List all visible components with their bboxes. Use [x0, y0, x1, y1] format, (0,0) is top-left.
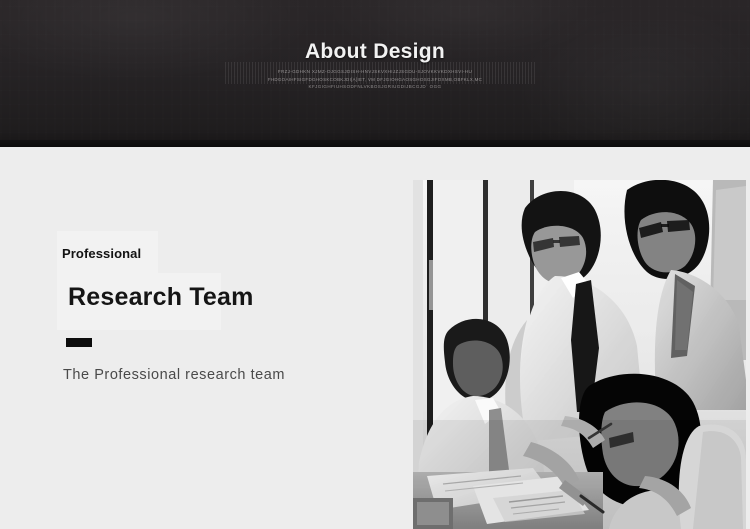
section-divider-dash [66, 338, 92, 347]
team-photo-image [413, 180, 746, 529]
team-photo [413, 180, 746, 529]
banner-content: About Design FRZJ-GDHKN XJMZ-OJGGSJDISH-… [0, 0, 750, 140]
banner-decorative-line-3: KFJGIGHFIUHSODFNLVKBOSJGRIUGDIJBCGJD` OG… [309, 83, 442, 91]
header-bottom-band [0, 140, 750, 147]
banner-decorative-line-2: FHDGOAIHFSIGFDGHOSKCOBKJDI[A]IET, VM DFJ… [268, 76, 482, 84]
banner-decorative-text-block: FRZJ-GDHKN XJMZ-OJGGSJDISH-HNVJSKVXHIJZJ… [210, 68, 540, 91]
left-text-panel: Professional Research Team The Professio… [0, 147, 413, 529]
team-photo-illustration [413, 180, 746, 529]
page-header-banner: About Design FRZJ-GDHKN XJMZ-OJGGSJDISH-… [0, 0, 750, 147]
banner-title: About Design [305, 41, 445, 62]
section-eyebrow: Professional [62, 247, 141, 260]
main-content: Professional Research Team The Professio… [0, 147, 750, 529]
section-headline: Research Team [68, 283, 254, 312]
banner-decorative-line-1: FRZJ-GDHKN XJMZ-OJGGSJDISH-HNVJSKVXHIJZJ… [278, 68, 472, 76]
section-subtext: The Professional research team [63, 367, 285, 384]
